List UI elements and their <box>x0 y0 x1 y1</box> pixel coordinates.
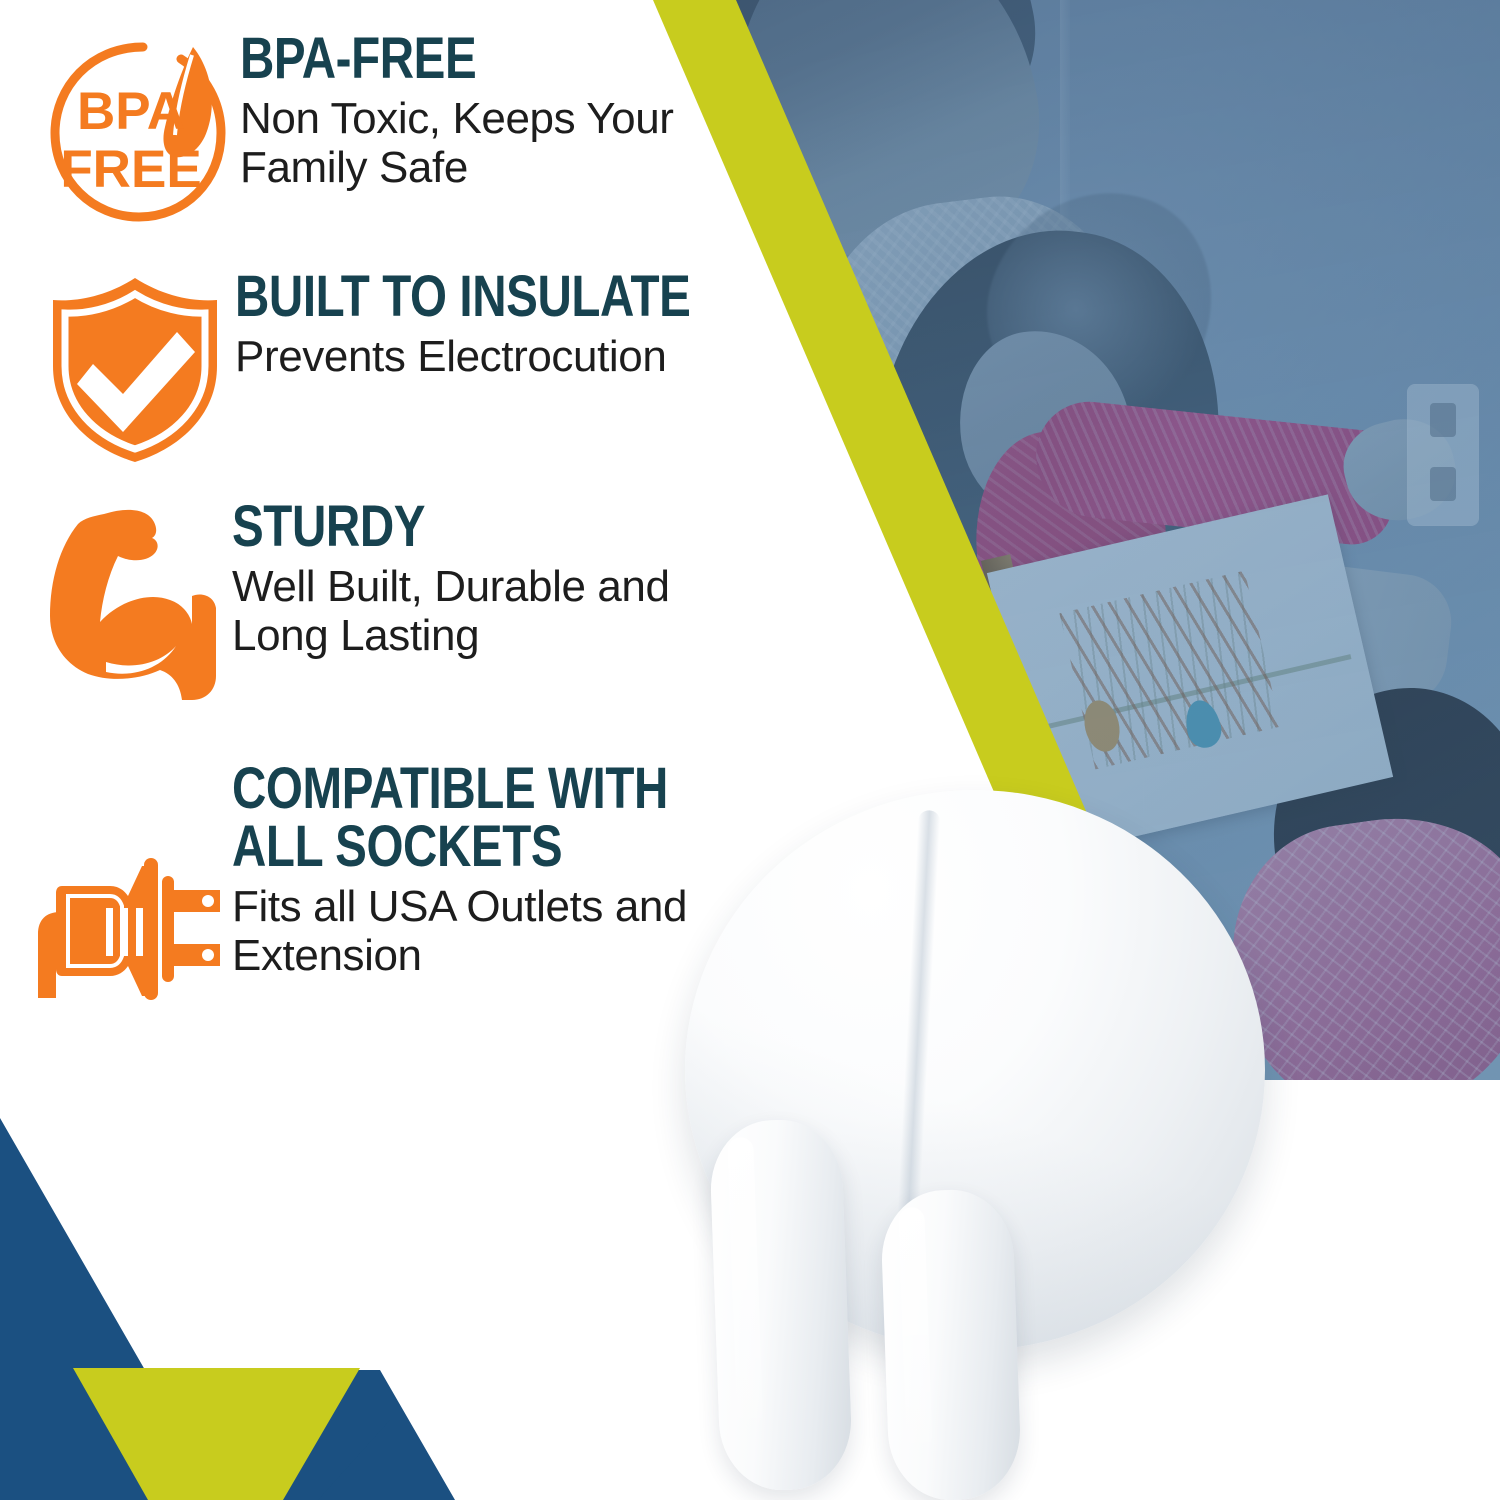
feature-title-compatible-with-all-sockets: COMPATIBLE WITH ALL SOCKETS <box>232 760 675 876</box>
feature-title-bpa-free: BPA-FREE <box>240 30 642 88</box>
plug-prong-left <box>709 1118 854 1492</box>
shield-check-icon <box>35 276 235 461</box>
plug-prong-right-highlight <box>898 1207 932 1450</box>
feature-text-sturdy: STURDY Well Built, Durable and Long Last… <box>232 498 752 661</box>
feature-title-sturdy: STURDY <box>232 498 658 556</box>
feature-title-line-2: ALL SOCKETS <box>232 818 675 876</box>
feature-title-line-1: COMPATIBLE WITH <box>232 760 675 818</box>
bpa-free-badge-icon: BPA FREE <box>30 30 240 230</box>
feature-item-bpa-free: BPA FREE BPA-FREE Non Toxic, Keeps Your … <box>30 30 730 230</box>
product-infographic: BPA FREE BPA-FREE Non Toxic, Keeps Your … <box>0 0 1500 1500</box>
power-plug-icon <box>32 838 232 1018</box>
feature-subtitle-built-to-insulate: Prevents Electrocution <box>235 332 835 381</box>
feature-subtitle-compatible-with-all-sockets: Fits all USA Outlets and Extension <box>232 882 772 981</box>
flexed-bicep-icon <box>32 504 232 704</box>
feature-subtitle-sturdy: Well Built, Durable and Long Lasting <box>232 562 752 661</box>
feature-title-built-to-insulate: BUILT TO INSULATE <box>235 268 727 326</box>
bpa-badge-top-label: BPA <box>77 82 185 141</box>
feature-item-built-to-insulate: BUILT TO INSULATE Prevents Electrocution <box>35 268 835 461</box>
plug-prong-left-highlight <box>727 1137 763 1426</box>
feature-text-built-to-insulate: BUILT TO INSULATE Prevents Electrocution <box>235 268 835 381</box>
plug-prong-right <box>880 1188 1023 1500</box>
feature-subtitle-bpa-free: Non Toxic, Keeps Your Family Safe <box>240 94 730 193</box>
feature-item-compatible-with-all-sockets: COMPATIBLE WITH ALL SOCKETS Fits all USA… <box>32 768 772 1018</box>
feature-text-bpa-free: BPA-FREE Non Toxic, Keeps Your Family Sa… <box>240 30 730 193</box>
feature-text-compatible-with-all-sockets: COMPATIBLE WITH ALL SOCKETS Fits all USA… <box>232 760 772 981</box>
bpa-badge-bottom-label: FREE <box>60 140 201 199</box>
feature-item-sturdy: STURDY Well Built, Durable and Long Last… <box>32 498 752 704</box>
